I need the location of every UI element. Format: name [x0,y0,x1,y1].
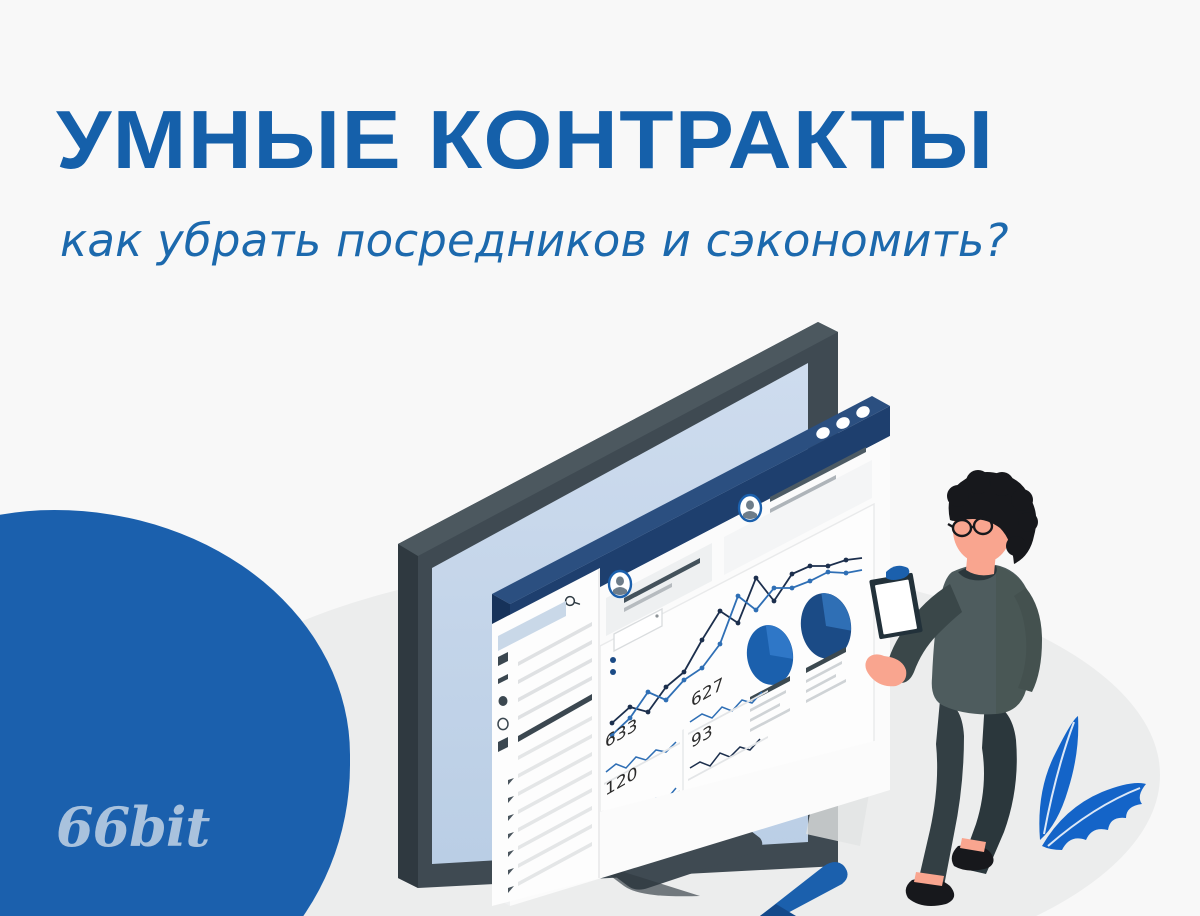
brand-logo: 66bit [56,795,209,859]
bulb-icon [499,696,508,706]
plant-leaves [1039,716,1146,850]
poster-canvas: 627 633 93 120 УМНЫЕ КОНТРАКТЫ как убрат… [0,0,1200,916]
page-subtitle: как убрать посредников и сэкономить? [60,218,1009,263]
page-title: УМНЫЕ КОНТРАКТЫ [56,98,1200,181]
person-hair-curl-3 [990,472,1014,496]
person-hair-curl-4 [1011,489,1033,511]
person-hair-curl-2 [966,470,990,494]
monitor-bezel-side [398,544,418,888]
panel-input-dot [655,614,658,617]
browser-sidebar-divider [598,569,600,878]
pen-prop [760,862,848,916]
bullet-dot-1 [610,657,616,663]
person-hair-curl-5 [1018,512,1038,532]
person-hair-curl-6 [1006,536,1026,556]
bullet-dot-2 [610,669,616,675]
person-hair-curl-1 [947,485,969,507]
avatar-badge-main [609,571,631,597]
avatar-badge-top [739,495,761,521]
